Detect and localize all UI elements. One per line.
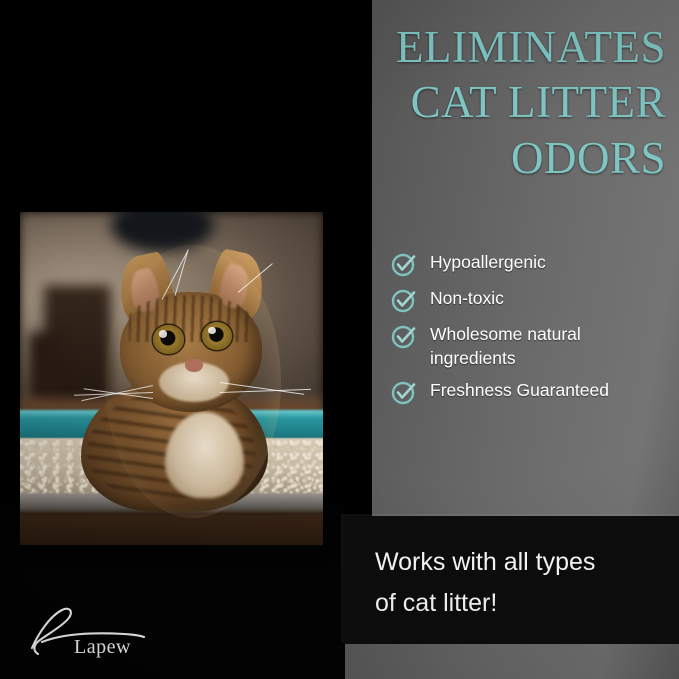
callout-box: Works with all types of cat litter!: [343, 516, 679, 644]
list-item-label: Freshness Guaranteed: [430, 378, 609, 402]
kitten-right-eye: [202, 322, 232, 350]
list-item: Hypoallergenic: [390, 250, 670, 278]
check-circle-icon: [390, 378, 418, 406]
photo-foreground-floor: [20, 512, 323, 545]
list-item: Wholesome natural ingredients: [390, 322, 670, 370]
photo-scene: [20, 212, 323, 545]
brand-logo: Lapew: [28, 604, 158, 662]
brand-wordmark: Lapew: [74, 636, 131, 659]
headline-line-2: CAT LITTER: [300, 75, 666, 130]
headline-line-1: ELIMINATES: [300, 20, 666, 75]
callout-text: Works with all types of cat litter!: [375, 542, 655, 624]
feature-list: Hypoallergenic Non-toxic Wholesome natur…: [390, 250, 670, 414]
list-item: Freshness Guaranteed: [390, 378, 670, 406]
kitten-forehead-stripes: [129, 295, 250, 342]
photo-background-object: [29, 332, 59, 405]
product-photo: [20, 212, 323, 545]
product-feature-poster: ELIMINATES CAT LITTER ODORS: [0, 0, 679, 679]
list-item-label: Non-toxic: [430, 286, 504, 310]
callout-line-2: of cat litter!: [375, 583, 655, 624]
list-item-label: Hypoallergenic: [430, 250, 546, 274]
callout-line-1: Works with all types: [375, 542, 655, 583]
check-circle-icon: [390, 286, 418, 314]
headline: ELIMINATES CAT LITTER ODORS: [300, 20, 666, 186]
check-circle-icon: [390, 322, 418, 350]
list-item: Non-toxic: [390, 286, 670, 314]
kitten-left-eye: [153, 325, 183, 353]
headline-line-3: ODORS: [300, 131, 666, 186]
check-circle-icon: [390, 250, 418, 278]
list-item-label: Wholesome natural ingredients: [430, 322, 670, 370]
kitten-nose: [185, 359, 203, 372]
